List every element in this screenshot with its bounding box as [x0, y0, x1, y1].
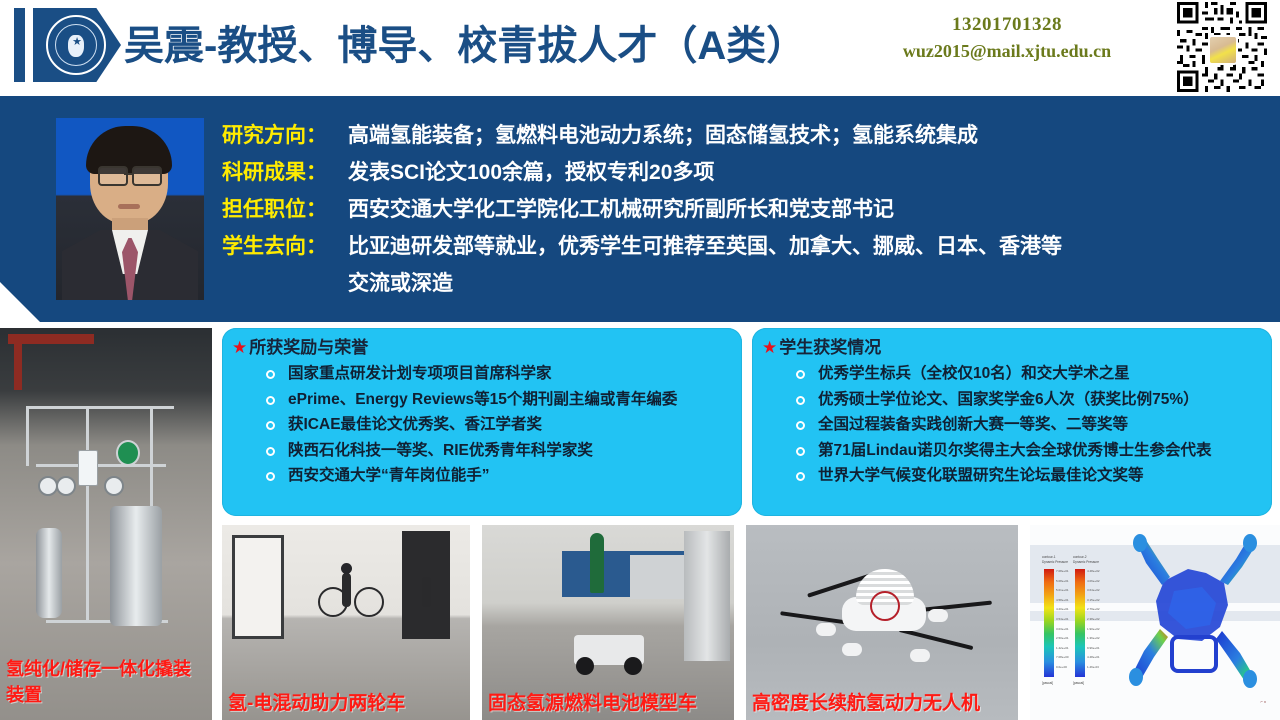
cfd-drone-contour [1116, 529, 1276, 714]
student-awards-title: ★学生获奖情况 [762, 336, 1272, 360]
scene-tank-small [36, 528, 62, 618]
list-item: 获ICAE最佳论文优秀奖、香江学者奖 [266, 413, 742, 438]
profile-value-research: 高端氢能装备；氢燃料电池动力系统；固态储氢技术；氢能系统集成 [348, 118, 1262, 153]
cfd-legend2-colorbar [1075, 569, 1085, 677]
profile-label-research: 研究方向： [222, 118, 348, 153]
student-awards-panel: ★学生获奖情况 优秀学生标兵（全校仅10名）和交大学术之星 优秀硕士学位论文、国… [752, 328, 1272, 516]
drone-landing-foot [842, 643, 862, 656]
list-item: 优秀学生标兵（全校仅10名）和交大学术之星 [796, 362, 1272, 387]
profile-label-achievements: 科研成果： [222, 155, 348, 190]
photo-hydrogen-electric-bike: 氢-电混动助力两轮车 [222, 525, 470, 720]
profile-row-students: 学生去向： 比亚迪研发部等就业，优秀学生可推荐至英国、加拿大、挪威、日本、香港等 [222, 229, 1262, 264]
xjtu-university-logo-icon: ★ [33, 8, 121, 82]
list-item: 优秀硕士学位论文、国家奖学金6人次（获奖比例75%） [796, 388, 1272, 413]
profile-row-achievements: 科研成果： 发表SCI论文100余篇，授权专利20多项 [222, 155, 1262, 190]
portrait-glasses-bridge [124, 173, 132, 175]
list-item: 全国过程装备实践创新大赛一等奖、二等奖等 [796, 413, 1272, 438]
drone-landing-foot [816, 623, 836, 636]
awards-honors-list: 国家重点研发计划专项项目首席科学家 ePrime、Energy Reviews等… [222, 362, 742, 489]
contact-block: 13201701328 wuz2015@mail.xjtu.edu.cn [852, 12, 1162, 64]
cfd-legend2-title: contour-2 [1073, 555, 1086, 559]
scene-tank-large [110, 506, 162, 626]
portrait-mouth [118, 204, 140, 209]
cfd-legend2-unit: [pascal] [1073, 681, 1084, 685]
list-item: 第71届Lindau诺贝尔奖得主大会全球优秀博士生参会代表 [796, 439, 1272, 464]
student-awards-title-text: 学生获奖情况 [779, 338, 881, 357]
poster-slide: ★ 吴震-教授、博导、校青拔人才（A类） 13201701328 wuz2015… [0, 0, 1280, 720]
scene-bike-wheel [354, 587, 384, 617]
wechat-qr-code-icon[interactable] [1166, 2, 1278, 92]
profile-rows: 研究方向： 高端氢能装备；氢燃料电池动力系统；固态储氢技术；氢能系统集成 科研成… [222, 118, 1262, 301]
photo-caption: 高密度长续航氢动力无人机 [752, 691, 980, 716]
red-star-icon: ★ [762, 338, 777, 357]
portrait-glasses-right [132, 166, 162, 186]
profile-row-research: 研究方向： 高端氢能装备；氢燃料电池动力系统；固态储氢技术；氢能系统集成 [222, 118, 1262, 153]
header: ★ 吴震-教授、博导、校青拔人才（A类） 13201701328 wuz2015… [0, 0, 1280, 92]
scene-indicator [116, 440, 140, 466]
list-item: 陕西石化科技一等奖、RIE优秀青年科学家奖 [266, 439, 742, 464]
qr-avatar-icon [1208, 35, 1238, 65]
profile-label-students: 学生去向： [222, 229, 348, 264]
logo-star-icon: ★ [71, 36, 83, 48]
photo-cfd-contour-drone: contour-1 Dynamic Pressure 7.08e+015.08e… [1030, 525, 1280, 720]
logo-disc-icon: ★ [46, 15, 106, 75]
drone-landing-foot [928, 609, 948, 622]
list-item: 西安交通大学“青年岗位能手” [266, 464, 742, 489]
photo-fuel-cell-model-car: 固态氢源燃料电池模型车 [482, 525, 734, 720]
list-item: 国家重点研发计划专项项目首席科学家 [266, 362, 742, 387]
cfd-legend1-subtitle: Dynamic Pressure [1042, 560, 1068, 564]
drone-university-seal-icon [870, 591, 900, 621]
scene-gauge [38, 476, 58, 496]
list-item: 世界大学气候变化联盟研究生论坛最佳论文奖等 [796, 464, 1272, 489]
contact-phone[interactable]: 13201701328 [852, 12, 1162, 38]
scene-cabinet [684, 531, 730, 661]
profile-value-position: 西安交通大学化工学院化工机械研究所副所长和党支部书记 [348, 192, 1262, 227]
contact-email[interactable]: wuz2015@mail.xjtu.edu.cn [852, 38, 1162, 64]
avatar [56, 118, 204, 300]
scene-person-head [341, 563, 352, 574]
scene-person-2 [422, 577, 431, 607]
awards-honors-title-text: 所获奖励与荣誉 [249, 338, 368, 357]
scene-gauge [56, 476, 76, 496]
cfd-legend1-colorbar [1044, 569, 1054, 677]
awards-honors-title: ★所获奖励与荣誉 [232, 336, 742, 360]
scene-gas-cylinder [590, 533, 604, 593]
profile-value-students-line2: 交流或深造 [222, 266, 1262, 301]
cfd-legend1-title: contour-1 [1042, 555, 1055, 559]
scene-bike-wheel [318, 587, 348, 617]
photo-caption: 固态氢源燃料电池模型车 [488, 691, 697, 716]
profile-row-position: 担任职位： 西安交通大学化工学院化工机械研究所副所长和党支部书记 [222, 192, 1262, 227]
student-awards-list: 优秀学生标兵（全校仅10名）和交大学术之星 优秀硕士学位论文、国家奖学金6人次（… [752, 362, 1272, 489]
profile-label-position: 担任职位： [222, 192, 348, 227]
cfd-legend2-subtitle: Dynamic Pressure [1073, 560, 1099, 564]
scene-car-wheel [576, 657, 594, 675]
scene-gauge [104, 476, 124, 496]
portrait-glasses-left [98, 166, 128, 186]
profile-value-students: 比亚迪研发部等就业，优秀学生可推荐至英国、加拿大、挪威、日本、香港等 [348, 229, 1262, 264]
scene-post [14, 342, 22, 390]
list-item: ePrime、Energy Reviews等15个期刊副主编或青年编委 [266, 388, 742, 413]
photo-caption: 氢-电混动助力两轮车 [228, 691, 405, 716]
scene-display [78, 450, 98, 486]
cfd-legend1-unit: [pascal] [1042, 681, 1053, 685]
scene-car-wheel [624, 657, 642, 675]
photo-hydrogen-drone: 高密度长续航氢动力无人机 [746, 525, 1018, 720]
cfd-legend1-ticks: 7.08e+015.08e+01 5.01e+014.58e+01 4.20e+… [1056, 567, 1069, 673]
scene-window [232, 535, 284, 639]
photo-caption: 氢纯化/储存一体化撬装装置 [6, 656, 206, 708]
profile-panel: 研究方向： 高端氢能装备；氢燃料电池动力系统；固态储氢技术；氢能系统集成 科研成… [0, 96, 1280, 322]
drone-landing-foot [910, 649, 930, 662]
photo-hydrogen-purification-rig: 氢纯化/储存一体化撬装装置 [0, 328, 212, 720]
profile-value-achievements: 发表SCI论文100余篇，授权专利20多项 [348, 155, 1262, 190]
cfd-axis-triad-icon: ⌐ x [1261, 699, 1266, 704]
red-star-icon: ★ [232, 338, 247, 357]
cfd-legend2-ticks: 4.48e+024.06e+02 3.64e+023.15e+02 2.79e+… [1087, 567, 1100, 673]
awards-honors-panel: ★所获奖励与荣誉 国家重点研发计划专项项目首席科学家 ePrime、Energy… [222, 328, 742, 516]
header-accent-bar [14, 8, 25, 82]
page-title: 吴震-教授、博导、校青拔人才（A类） [124, 12, 824, 80]
